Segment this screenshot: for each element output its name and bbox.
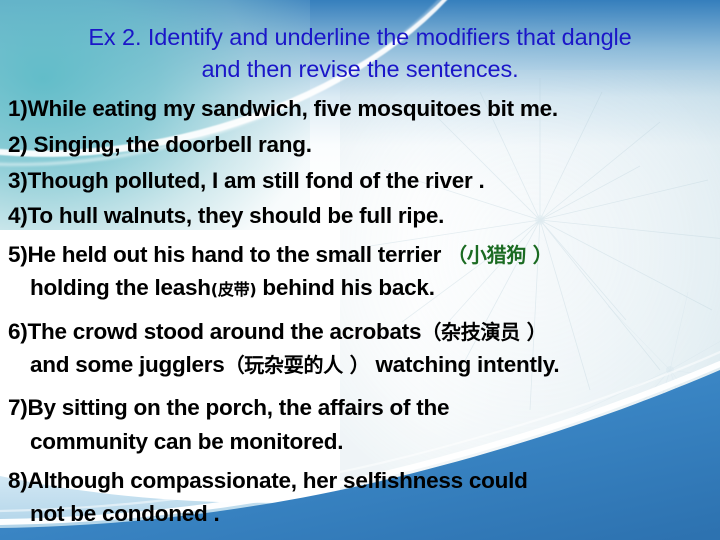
item-number: 1)	[8, 96, 28, 121]
list-item: 2) Singing, the doorbell rang.	[8, 128, 720, 161]
item-text: Although compassionate, her selfishness …	[28, 468, 528, 493]
slide-title: Ex 2. Identify and underline the modifie…	[0, 22, 720, 86]
title-line-1: Ex 2. Identify and underline the modifie…	[88, 24, 631, 50]
item-text: Singing, the doorbell rang.	[28, 132, 312, 157]
item-number: 3)	[8, 168, 28, 193]
item-gloss-chinese: （玩杂耍的人 ）	[225, 353, 370, 377]
item-number: 4)	[8, 203, 28, 228]
slide-canvas: Ex 2. Identify and underline the modifie…	[0, 0, 720, 540]
item-gloss-chinese: (皮带)	[211, 280, 257, 299]
list-item: 5)He held out his hand to the small terr…	[8, 238, 720, 305]
slide-content: Ex 2. Identify and underline the modifie…	[0, 0, 720, 540]
item-text: By sitting on the porch, the affairs of …	[28, 395, 450, 420]
item-text-continuation: holding the leash(皮带) behind his back.	[8, 271, 720, 304]
item-text: He held out his hand to the small terrie…	[28, 242, 448, 267]
list-item: 3)Though polluted, I am still fond of th…	[8, 164, 720, 197]
item-gloss-chinese: （杂技演员 ）	[421, 320, 546, 344]
exercise-list: 1)While eating my sandwich, five mosquit…	[8, 92, 720, 531]
item-number: 7)	[8, 395, 28, 420]
list-item: 8)Although compassionate, her selfishnes…	[8, 464, 720, 531]
item-text: To hull walnuts, they should be full rip…	[28, 203, 445, 228]
item-number: 6)	[8, 319, 28, 344]
item-text-continuation: not be condoned .	[8, 497, 720, 530]
item-text: holding the leash	[30, 275, 211, 300]
item-text: watching intently.	[370, 352, 560, 377]
item-text: While eating my sandwich, five mosquitoe…	[28, 96, 558, 121]
item-gloss-chinese: （小猎狗 ）	[447, 243, 552, 267]
title-line-2: and then revise the sentences.	[0, 54, 720, 86]
list-item: 6)The crowd stood around the acrobats（杂技…	[8, 315, 720, 382]
list-item: 1)While eating my sandwich, five mosquit…	[8, 92, 720, 125]
item-number: 5)	[8, 242, 28, 267]
list-item: 4)To hull walnuts, they should be full r…	[8, 199, 720, 232]
item-text-continuation: community can be monitored.	[8, 425, 720, 458]
item-text: behind his back.	[256, 275, 434, 300]
list-item: 7)By sitting on the porch, the affairs o…	[8, 391, 720, 458]
item-text: Though polluted, I am still fond of the …	[28, 168, 485, 193]
item-text: and some jugglers	[30, 352, 225, 377]
item-number: 8)	[8, 468, 28, 493]
item-text-continuation: and some jugglers（玩杂耍的人 ） watching inten…	[8, 348, 720, 381]
item-number: 2)	[8, 132, 28, 157]
item-text: The crowd stood around the acrobats	[28, 319, 422, 344]
